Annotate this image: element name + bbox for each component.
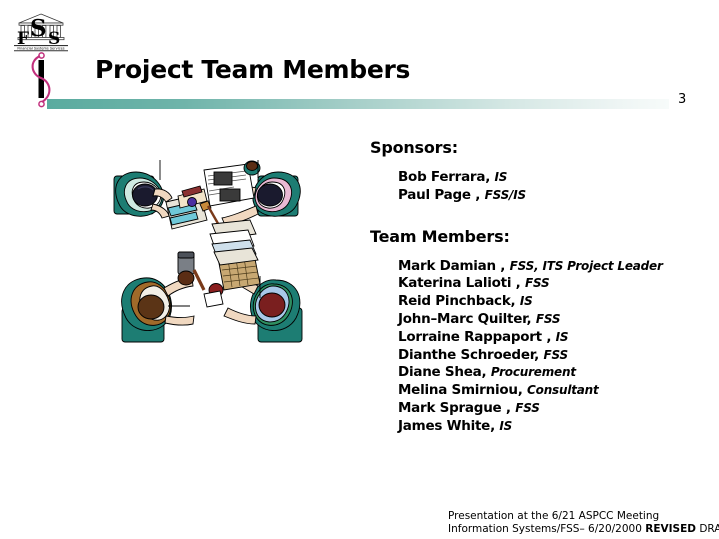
page-title: Project Team Members [95, 55, 410, 84]
person-role: FSS/IS [485, 188, 526, 202]
list-item: Reid Pinchback, IS [398, 293, 700, 311]
person-role: FSS [515, 401, 539, 415]
person-name: Dianthe Schroeder, [398, 347, 539, 363]
person-name: James White, [398, 418, 495, 434]
logo-caption: Financial Systems Services [17, 47, 64, 51]
meeting-table-overhead-clipart [108, 158, 314, 358]
team-block: Team Members: Mark Damian , FSS, ITS Pro… [370, 227, 700, 436]
person-name: Diane Shea, [398, 364, 486, 380]
footer-line-2-prefix: Information Systems/FSS– 6/20/2000 [448, 523, 645, 535]
person-role: IS [556, 330, 569, 344]
person-role: FSS [525, 276, 549, 290]
footer-line-1: Presentation at the 6/21 ASPCC Meeting [448, 510, 719, 523]
person-name: Mark Sprague , [398, 400, 511, 416]
sponsors-list: Bob Ferrara, IS Paul Page , FSS/IS [398, 169, 700, 205]
list-item: Mark Damian , FSS, ITS Project Leader [398, 258, 700, 276]
team-members-heading: Team Members: [370, 227, 700, 246]
fss-logo: F S S Financial Systems Services [10, 12, 72, 52]
person-name: Katerina Lalioti , [398, 275, 521, 291]
person-role: Consultant [527, 383, 599, 397]
list-item: Dianthe Schroeder, FSS [398, 347, 700, 365]
person-role: IS [495, 170, 508, 184]
list-item: Paul Page , FSS/IS [398, 187, 700, 205]
slide-footer: Presentation at the 6/21 ASPCC Meeting I… [448, 510, 719, 535]
person-name: Paul Page , [398, 187, 480, 203]
list-item: Katerina Lalioti , FSS [398, 275, 700, 293]
list-item: James White, IS [398, 418, 700, 436]
presentation-slide: F S S Financial Systems Services Project… [0, 0, 719, 539]
person-role: IS [499, 419, 512, 433]
person-name: Bob Ferrara, [398, 169, 490, 185]
list-item: Melina Smirniou, Consultant [398, 382, 700, 400]
footer-draft-label: DRAFT [696, 523, 719, 535]
person-role: FSS [536, 312, 560, 326]
footer-revised-label: REVISED [645, 523, 696, 535]
sponsors-heading: Sponsors: [370, 138, 700, 157]
person-name: Lorraine Rappaport , [398, 329, 551, 345]
person-role: FSS [543, 348, 567, 362]
team-members-list: Mark Damian , FSS, ITS Project Leader Ka… [398, 258, 700, 436]
list-item: Mark Sprague , FSS [398, 400, 700, 418]
person-name: Mark Damian , [398, 258, 505, 274]
title-divider-bar [47, 99, 669, 109]
person-role: IS [520, 294, 533, 308]
list-item: Lorraine Rappaport , IS [398, 329, 700, 347]
footer-line-2: Information Systems/FSS– 6/20/2000 REVIS… [448, 523, 719, 536]
page-number: 3 [678, 92, 686, 107]
person-role: Procurement [491, 365, 576, 379]
svg-text:S: S [30, 15, 47, 42]
person-name: Reid Pinchback, [398, 293, 515, 309]
person-name: Melina Smirniou, [398, 382, 523, 398]
list-item: Bob Ferrara, IS [398, 169, 700, 187]
list-item: Diane Shea, Procurement [398, 364, 700, 382]
slide-body: Sponsors: Bob Ferrara, IS Paul Page , FS… [370, 138, 700, 436]
person-role: FSS, ITS Project Leader [510, 259, 663, 273]
person-name: John–Marc Quilter, [398, 311, 531, 327]
sponsors-block: Sponsors: Bob Ferrara, IS Paul Page , FS… [370, 138, 700, 205]
list-item: John–Marc Quilter, FSS [398, 311, 700, 329]
